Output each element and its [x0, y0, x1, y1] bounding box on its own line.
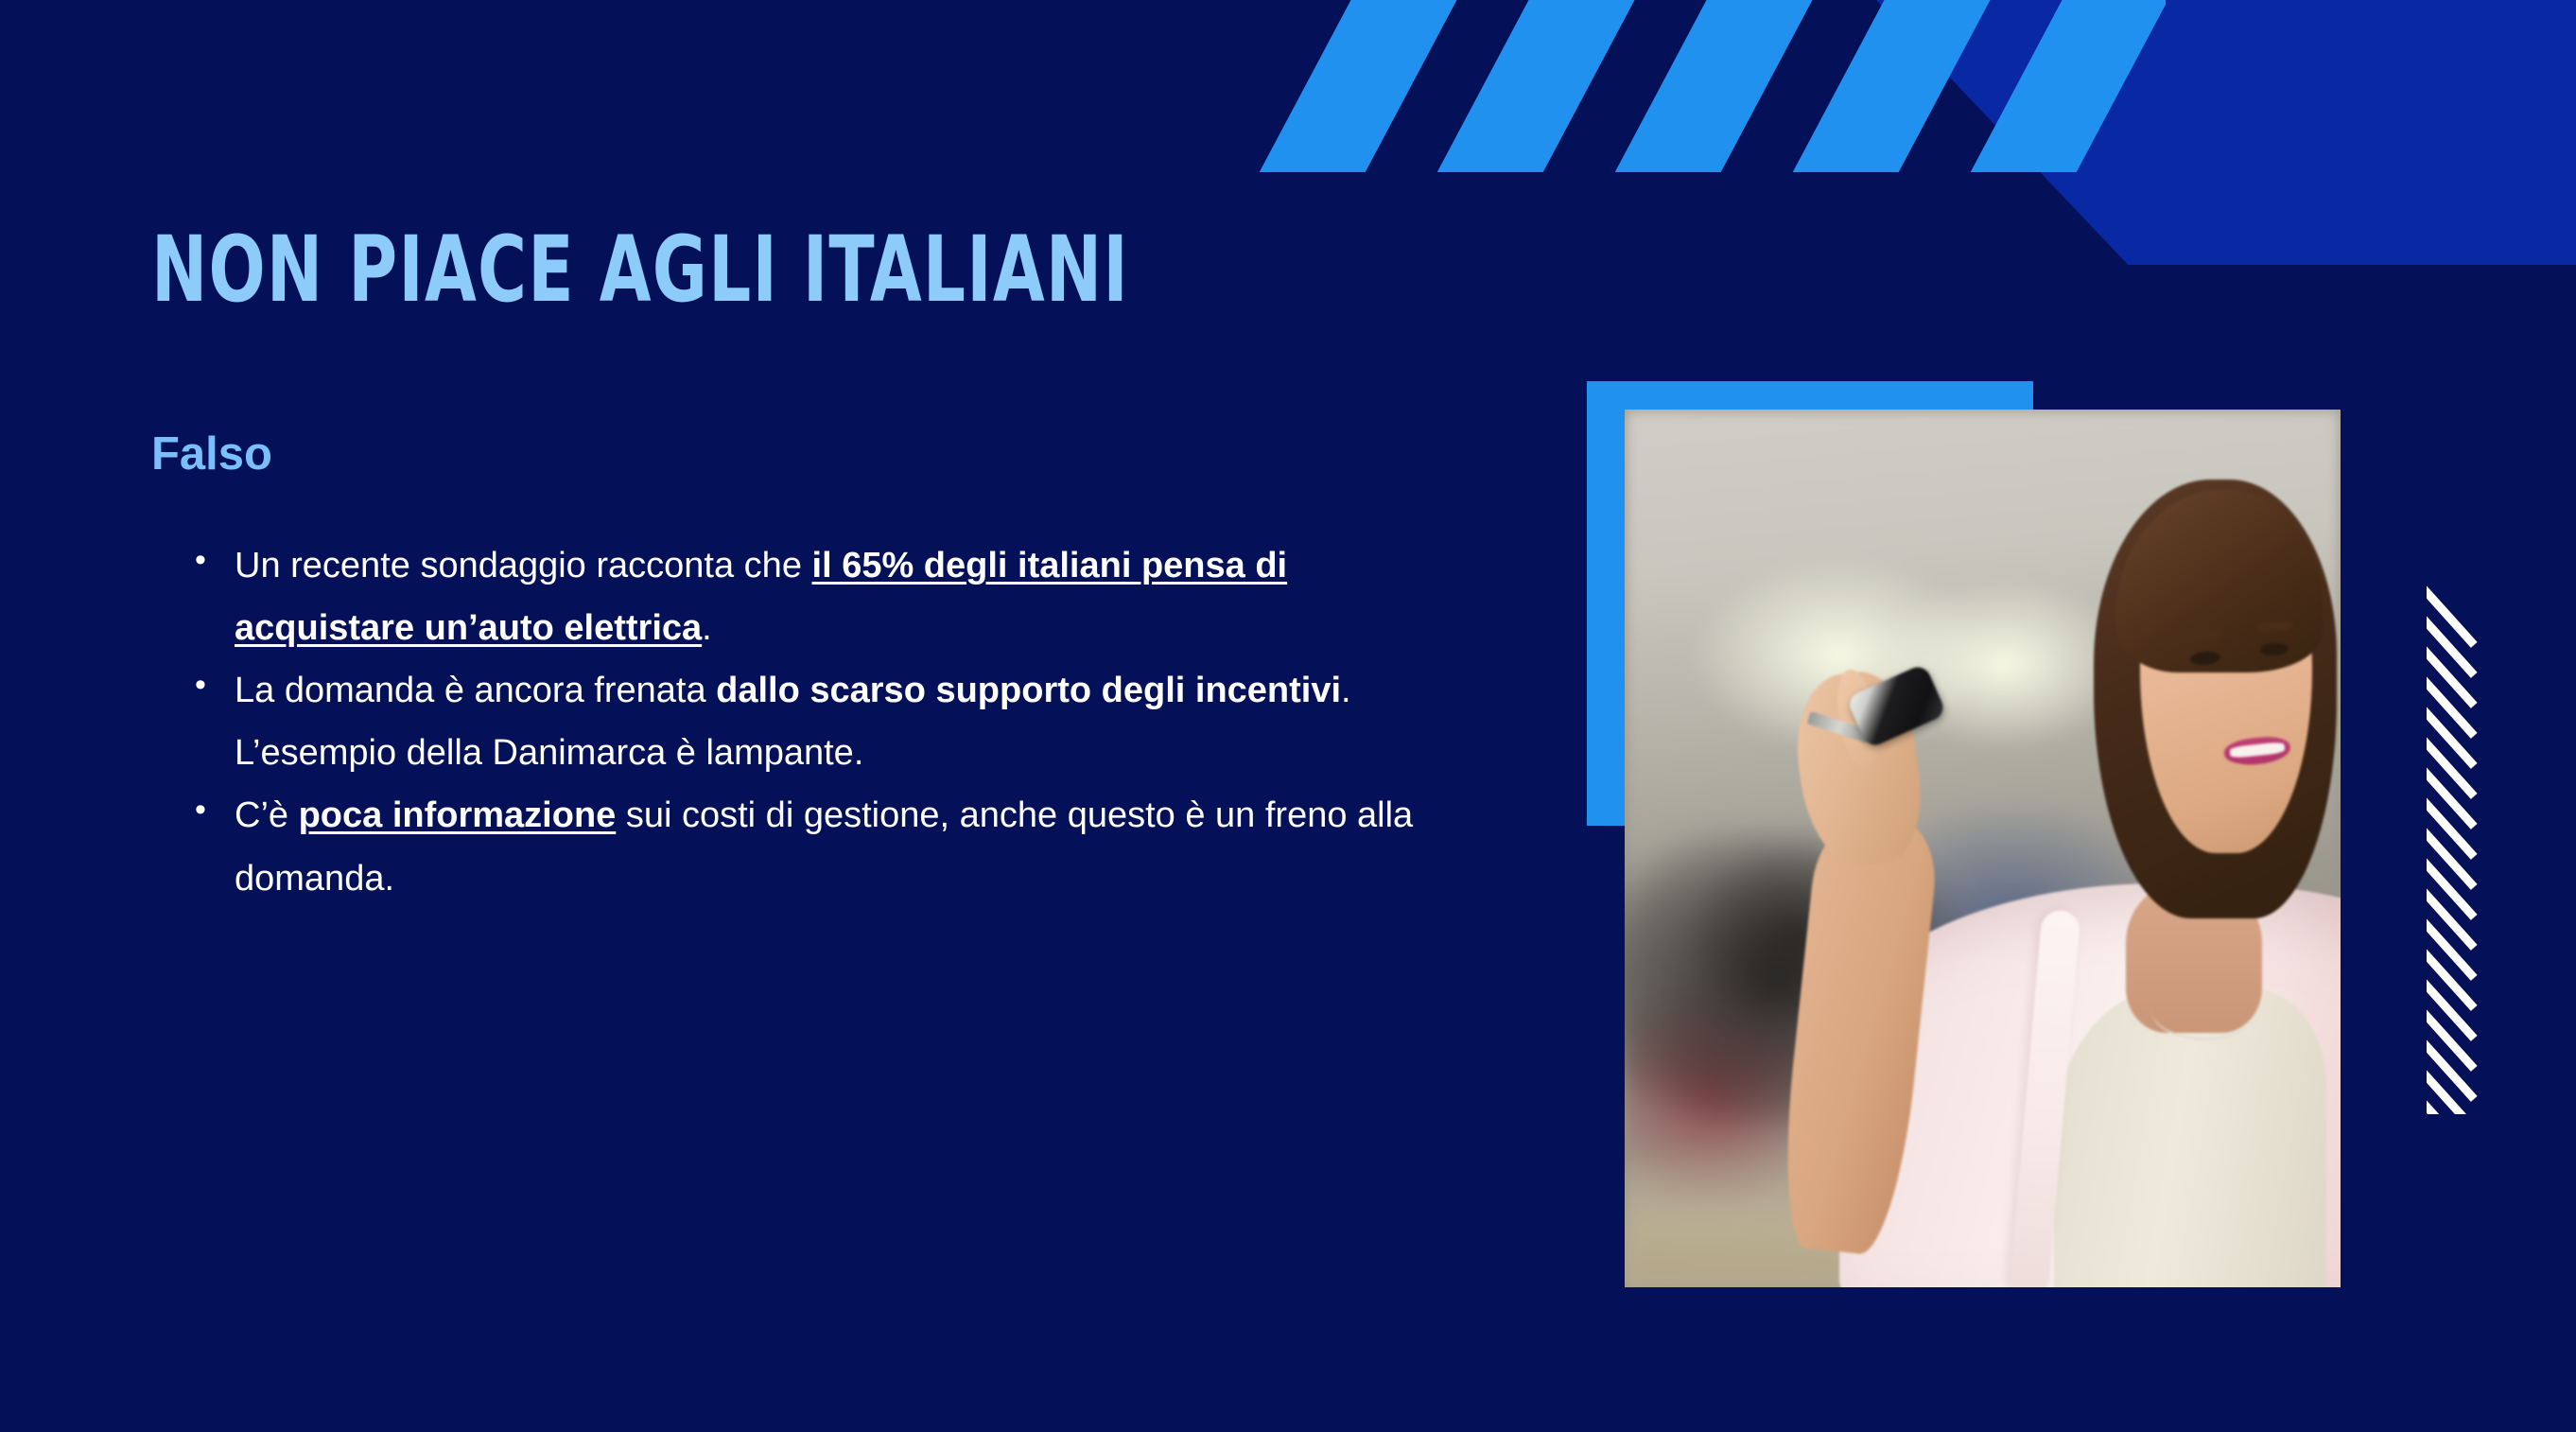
- diagonal-stripe: [1946, 0, 2166, 172]
- hatch-decoration: [2427, 579, 2491, 1114]
- slide-subtitle: Falso: [151, 428, 272, 480]
- diagonal-stripe: [1413, 0, 1655, 172]
- bullet-list: Un recente sondaggio racconta che il 65%…: [176, 534, 1454, 910]
- bullet-bold-span: il 65% degli italiani pensa di acquistar…: [235, 546, 1287, 648]
- diagonal-stripe: [1235, 0, 1477, 172]
- list-item: La domanda è ancora frenata dallo scarso…: [235, 659, 1454, 784]
- diagonal-stripes-decoration: [1163, 0, 2166, 172]
- slide: NON PIACE AGLI ITALIANI Falso Un recente…: [0, 0, 2576, 1432]
- bullet-underline-span: il 65% degli italiani pensa di acquistar…: [235, 546, 1287, 648]
- photo-woman-with-car-keys: [1625, 410, 2341, 1287]
- slide-title: NON PIACE AGLI ITALIANI: [151, 224, 1129, 315]
- bullet-bold-span: poca informazione: [299, 795, 617, 835]
- photo-person: [1625, 410, 2341, 1287]
- list-item: Un recente sondaggio racconta che il 65%…: [235, 534, 1454, 659]
- photo-necklace: [2150, 976, 2258, 1040]
- bullet-bold-span: dallo scarso supporto degli incentivi: [716, 671, 1341, 710]
- list-item: C’è poca informazione sui costi di gesti…: [235, 784, 1454, 909]
- diagonal-stripe: [1768, 0, 2010, 172]
- bullet-underline-span: poca informazione: [299, 795, 617, 835]
- diagonal-stripe: [1591, 0, 1833, 172]
